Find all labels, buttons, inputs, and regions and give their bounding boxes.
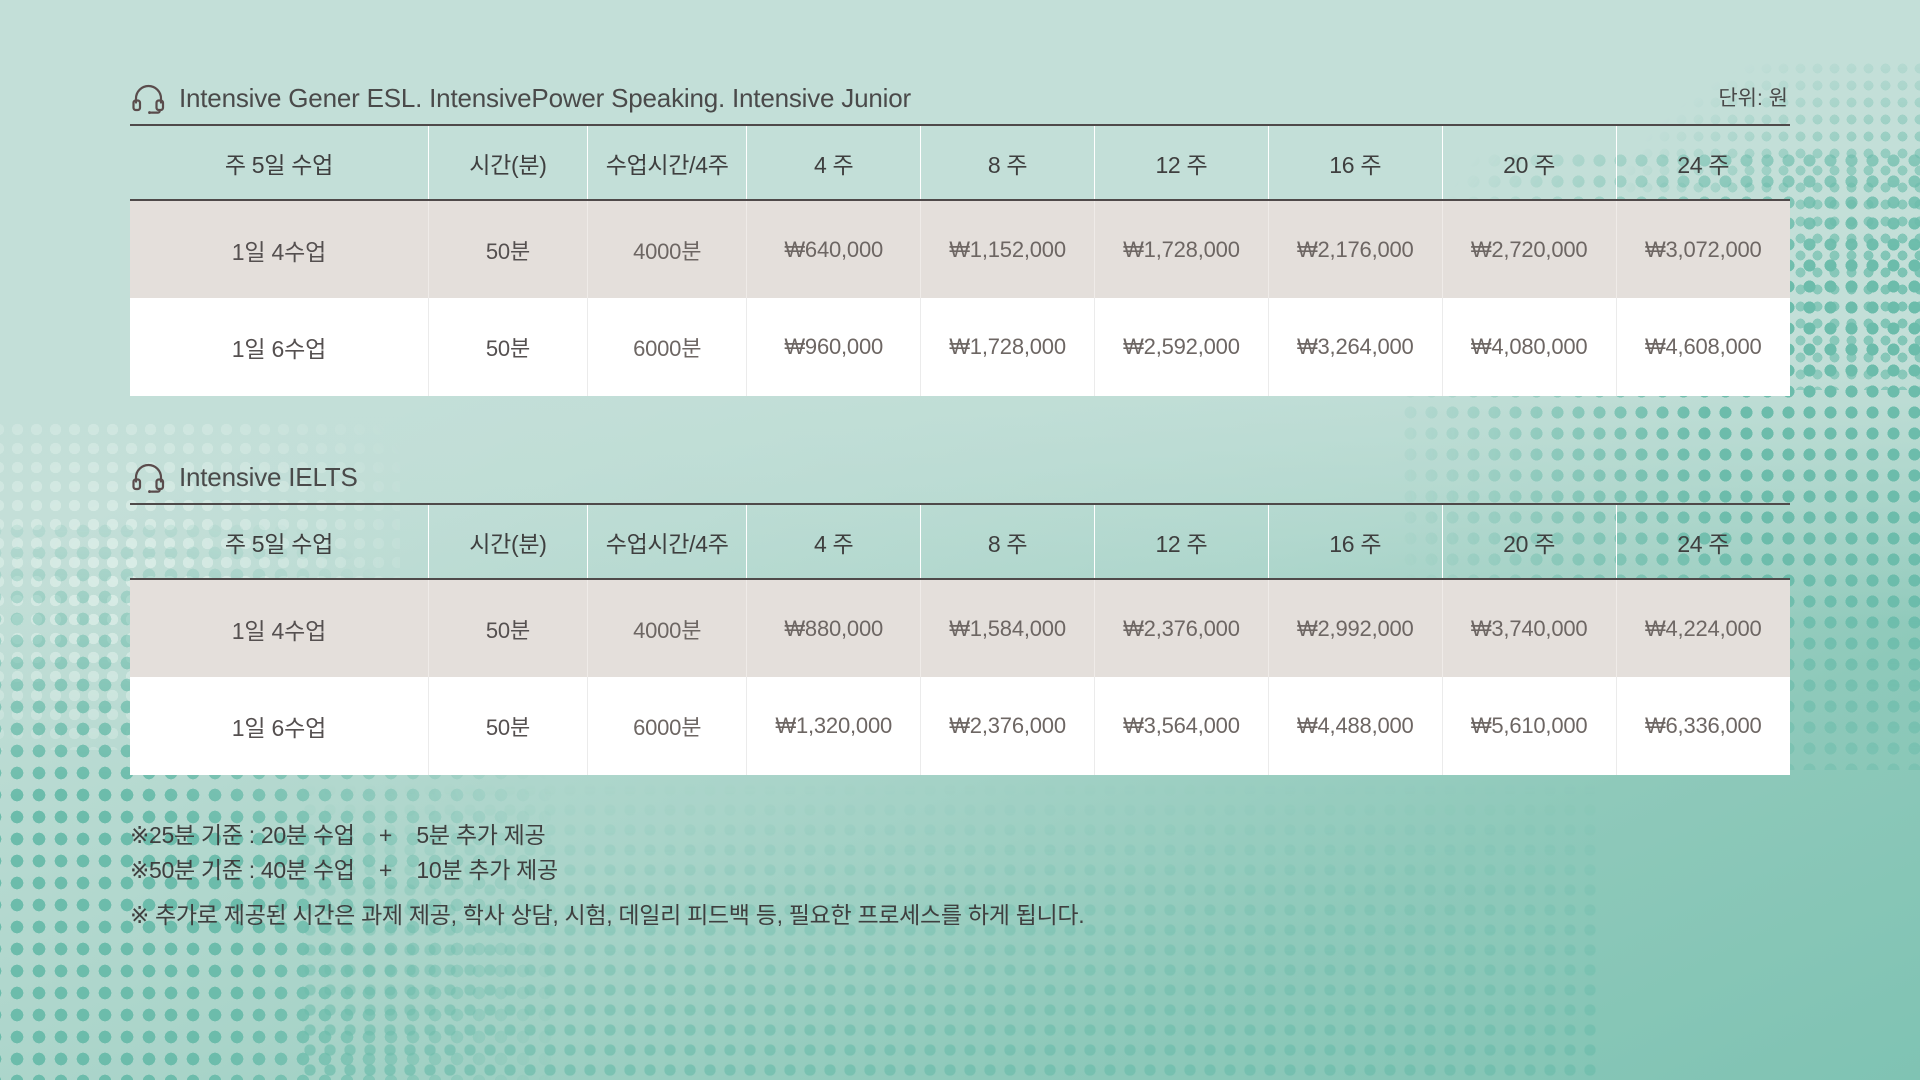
table-row: 1일 4수업 50분 4000분 ₩880,000 ₩1,584,000 ₩2,… (130, 579, 1790, 677)
unit-label: 단위: 원 (1718, 82, 1788, 114)
table-body: 1일 4수업 50분 4000분 ₩640,000 ₩1,152,000 ₩1,… (130, 200, 1790, 396)
cell-price-16w: ₩3,264,000 (1268, 298, 1442, 396)
column-header-2: 수업시간/4주 (588, 125, 747, 200)
cell-price-16w: ₩4,488,000 (1268, 677, 1442, 775)
cell-hours-per-4weeks: 4000분 (588, 579, 747, 677)
cell-price-4w: ₩880,000 (747, 579, 921, 677)
column-header-1: 시간(분) (428, 504, 587, 579)
cell-price-8w: ₩1,152,000 (921, 200, 1095, 298)
column-header-3: 4 주 (747, 504, 921, 579)
cell-price-16w: ₩2,992,000 (1268, 579, 1442, 677)
pricing-page: Intensive Gener ESL. IntensivePower Spea… (0, 0, 1920, 1080)
headset-icon (132, 84, 166, 114)
pricing-table: 주 5일 수업 시간(분) 수업시간/4주 4 주 8 주 12 주 16 주 … (130, 124, 1790, 396)
column-header-5: 12 주 (1094, 125, 1268, 200)
cell-price-12w: ₩2,376,000 (1094, 579, 1268, 677)
column-header-0: 주 5일 수업 (130, 504, 428, 579)
footnote-25min: ※25분 기준 : 20분 수업 + 5분 추가 제공 (130, 818, 1084, 853)
cell-price-20w: ₩5,610,000 (1442, 677, 1616, 775)
cell-price-12w: ₩2,592,000 (1094, 298, 1268, 396)
cell-price-24w: ₩4,608,000 (1616, 298, 1790, 396)
column-header-7: 20 주 (1442, 504, 1616, 579)
cell-plan: 1일 6수업 (130, 298, 428, 396)
cell-price-24w: ₩4,224,000 (1616, 579, 1790, 677)
footnotes: ※25분 기준 : 20분 수업 + 5분 추가 제공 ※50분 기준 : 40… (130, 818, 1084, 933)
cell-price-20w: ₩2,720,000 (1442, 200, 1616, 298)
cell-duration: 50분 (428, 200, 587, 298)
cell-plan: 1일 4수업 (130, 579, 428, 677)
cell-price-24w: ₩6,336,000 (1616, 677, 1790, 775)
cell-plan: 1일 4수업 (130, 200, 428, 298)
table-header-row: 주 5일 수업 시간(분) 수업시간/4주 4 주 8 주 12 주 16 주 … (130, 125, 1790, 200)
column-header-0: 주 5일 수업 (130, 125, 428, 200)
column-header-3: 4 주 (747, 125, 921, 200)
section-title: Intensive Gener ESL. IntensivePower Spea… (179, 83, 911, 114)
cell-duration: 50분 (428, 579, 587, 677)
cell-price-24w: ₩3,072,000 (1616, 200, 1790, 298)
cell-hours-per-4weeks: 6000분 (588, 677, 747, 775)
column-header-8: 24 주 (1616, 125, 1790, 200)
cell-price-12w: ₩3,564,000 (1094, 677, 1268, 775)
footnote-50min: ※50분 기준 : 40분 수업 + 10분 추가 제공 (130, 853, 1084, 888)
column-header-2: 수업시간/4주 (588, 504, 747, 579)
section-title: Intensive IELTS (179, 462, 358, 493)
section-title-group: Intensive IELTS (132, 462, 358, 493)
table-row: 1일 4수업 50분 4000분 ₩640,000 ₩1,152,000 ₩1,… (130, 200, 1790, 298)
cell-hours-per-4weeks: 6000분 (588, 298, 747, 396)
section-header: Intensive Gener ESL. IntensivePower Spea… (130, 82, 1790, 124)
cell-plan: 1일 6수업 (130, 677, 428, 775)
cell-price-4w: ₩640,000 (747, 200, 921, 298)
cell-price-12w: ₩1,728,000 (1094, 200, 1268, 298)
table-row: 1일 6수업 50분 6000분 ₩960,000 ₩1,728,000 ₩2,… (130, 298, 1790, 396)
cell-hours-per-4weeks: 4000분 (588, 200, 747, 298)
cell-price-8w: ₩1,584,000 (921, 579, 1095, 677)
column-header-6: 16 주 (1268, 125, 1442, 200)
cell-duration: 50분 (428, 298, 587, 396)
pricing-section-intensive-ielts: Intensive IELTS 주 5일 수업 시간(분) 수업시간/4주 4 … (130, 462, 1790, 775)
column-header-8: 24 주 (1616, 504, 1790, 579)
column-header-6: 16 주 (1268, 504, 1442, 579)
table-header: 주 5일 수업 시간(분) 수업시간/4주 4 주 8 주 12 주 16 주 … (130, 504, 1790, 579)
cell-price-8w: ₩2,376,000 (921, 677, 1095, 775)
cell-price-4w: ₩1,320,000 (747, 677, 921, 775)
cell-price-16w: ₩2,176,000 (1268, 200, 1442, 298)
cell-price-8w: ₩1,728,000 (921, 298, 1095, 396)
cell-price-20w: ₩3,740,000 (1442, 579, 1616, 677)
cell-price-20w: ₩4,080,000 (1442, 298, 1616, 396)
pricing-table: 주 5일 수업 시간(분) 수업시간/4주 4 주 8 주 12 주 16 주 … (130, 503, 1790, 775)
table-header: 주 5일 수업 시간(분) 수업시간/4주 4 주 8 주 12 주 16 주 … (130, 125, 1790, 200)
headset-icon (132, 463, 166, 493)
table-header-row: 주 5일 수업 시간(분) 수업시간/4주 4 주 8 주 12 주 16 주 … (130, 504, 1790, 579)
section-header: Intensive IELTS (130, 462, 1790, 503)
footnote-extra-time: ※ 추가로 제공된 시간은 과제 제공, 학사 상담, 시험, 데일리 피드백 … (130, 898, 1084, 933)
column-header-4: 8 주 (921, 504, 1095, 579)
cell-duration: 50분 (428, 677, 587, 775)
column-header-5: 12 주 (1094, 504, 1268, 579)
column-header-7: 20 주 (1442, 125, 1616, 200)
pricing-section-intensive-general: Intensive Gener ESL. IntensivePower Spea… (130, 82, 1790, 396)
section-title-group: Intensive Gener ESL. IntensivePower Spea… (132, 83, 911, 114)
column-header-1: 시간(분) (428, 125, 587, 200)
table-body: 1일 4수업 50분 4000분 ₩880,000 ₩1,584,000 ₩2,… (130, 579, 1790, 775)
column-header-4: 8 주 (921, 125, 1095, 200)
cell-price-4w: ₩960,000 (747, 298, 921, 396)
table-row: 1일 6수업 50분 6000분 ₩1,320,000 ₩2,376,000 ₩… (130, 677, 1790, 775)
